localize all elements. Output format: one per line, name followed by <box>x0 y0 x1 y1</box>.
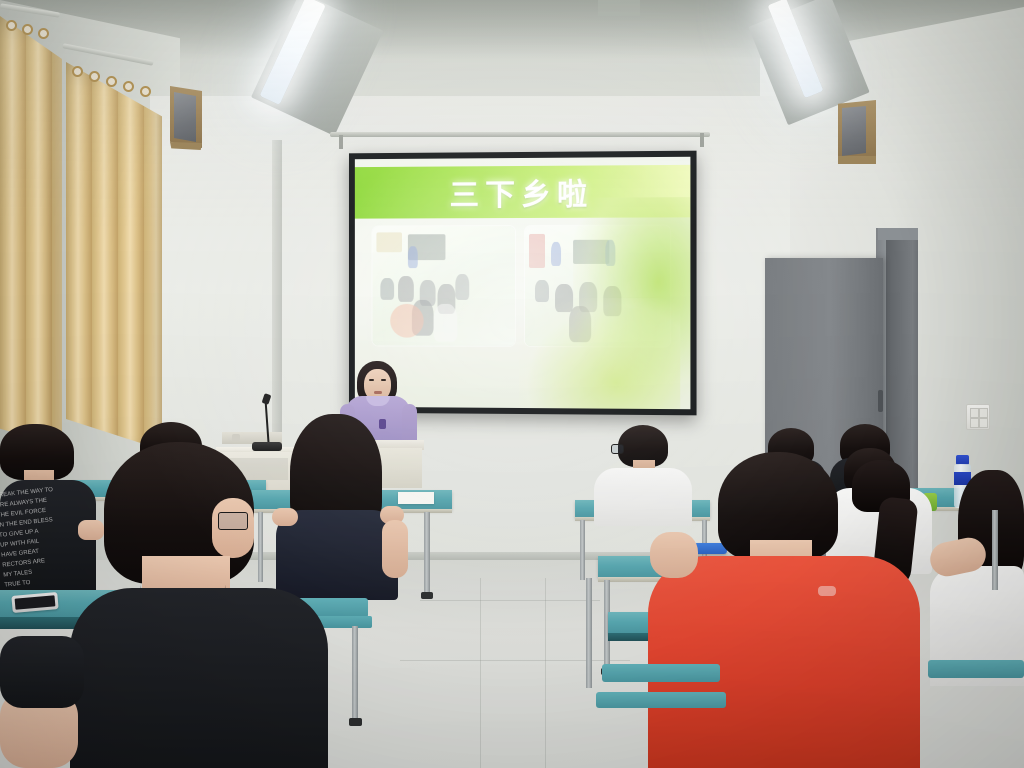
projector-glow <box>355 157 691 409</box>
wall-speaker-right <box>842 106 866 156</box>
wall-light-switch[interactable] <box>966 404 990 430</box>
desk-leg <box>586 578 592 688</box>
student-center-white-tee <box>594 468 692 526</box>
wall-speaker-left <box>174 92 196 142</box>
chair-back <box>602 664 720 682</box>
desk-leg <box>424 512 430 596</box>
floor-seam <box>545 578 546 768</box>
student-shoulder <box>0 636 84 708</box>
student-arm <box>650 532 698 578</box>
chair-leg <box>352 626 358 722</box>
curtain-grommet <box>22 24 33 35</box>
curtain-grommet <box>106 76 117 87</box>
wall-speaker-right-base <box>838 156 876 164</box>
projection-screen-rail <box>330 132 710 137</box>
presenter-badge <box>379 419 386 429</box>
window-curtain-left[interactable] <box>66 62 162 450</box>
curtain-grommet <box>6 20 17 31</box>
screen-bracket-left <box>339 135 343 149</box>
student-hand <box>78 520 104 540</box>
chair-foot <box>349 718 362 726</box>
switch-rocker[interactable] <box>979 418 988 428</box>
projection-screen-surface: 三下乡啦 <box>355 157 691 409</box>
student-right-red-tee <box>648 556 920 768</box>
classroom-photo: 三下乡啦 <box>0 0 1024 768</box>
student-front-left-black-tee <box>70 588 328 768</box>
student-shoulder <box>272 508 298 526</box>
presenter-eye <box>381 379 386 381</box>
window-curtain-far-left[interactable] <box>0 16 62 446</box>
presenter-eye <box>369 379 374 381</box>
projection-screen[interactable]: 三下乡啦 <box>349 151 697 416</box>
student-arm <box>382 520 408 578</box>
desk-foot <box>421 592 433 599</box>
whiteboard-track <box>272 140 282 440</box>
glasses-icon <box>218 512 248 530</box>
gooseneck-microphone-base <box>252 442 282 451</box>
curtain-grommet <box>38 28 49 39</box>
desk-leg <box>258 512 263 582</box>
chair-back <box>928 660 1024 678</box>
floor-seam <box>400 660 630 661</box>
switch-rocker[interactable] <box>970 408 979 418</box>
switch-rocker[interactable] <box>970 418 979 428</box>
curtain-grommet <box>123 81 134 92</box>
door-handle[interactable] <box>878 390 883 412</box>
floor-seam <box>420 600 600 601</box>
screen-bracket-right <box>700 133 704 147</box>
desk-leg <box>992 510 998 590</box>
floor-seam <box>480 578 481 768</box>
notebook-paper[interactable] <box>398 492 434 504</box>
switch-rocker[interactable] <box>979 408 988 418</box>
presenter-mouth <box>374 391 382 394</box>
curtain-grommet <box>72 66 83 77</box>
chair-back <box>596 692 726 708</box>
curtain-grommet <box>89 71 100 82</box>
red-tee-logo <box>818 586 836 596</box>
shirt-print-text: BREAK THE WAY TOARE ALWAYS THETHE EVIL F… <box>0 481 97 600</box>
desk-leg <box>580 520 585 580</box>
ceiling-patch <box>598 0 640 16</box>
rack-knob <box>232 434 240 441</box>
glasses-icon <box>611 444 624 454</box>
curtain-grommet <box>140 86 151 97</box>
door-header <box>878 228 918 240</box>
